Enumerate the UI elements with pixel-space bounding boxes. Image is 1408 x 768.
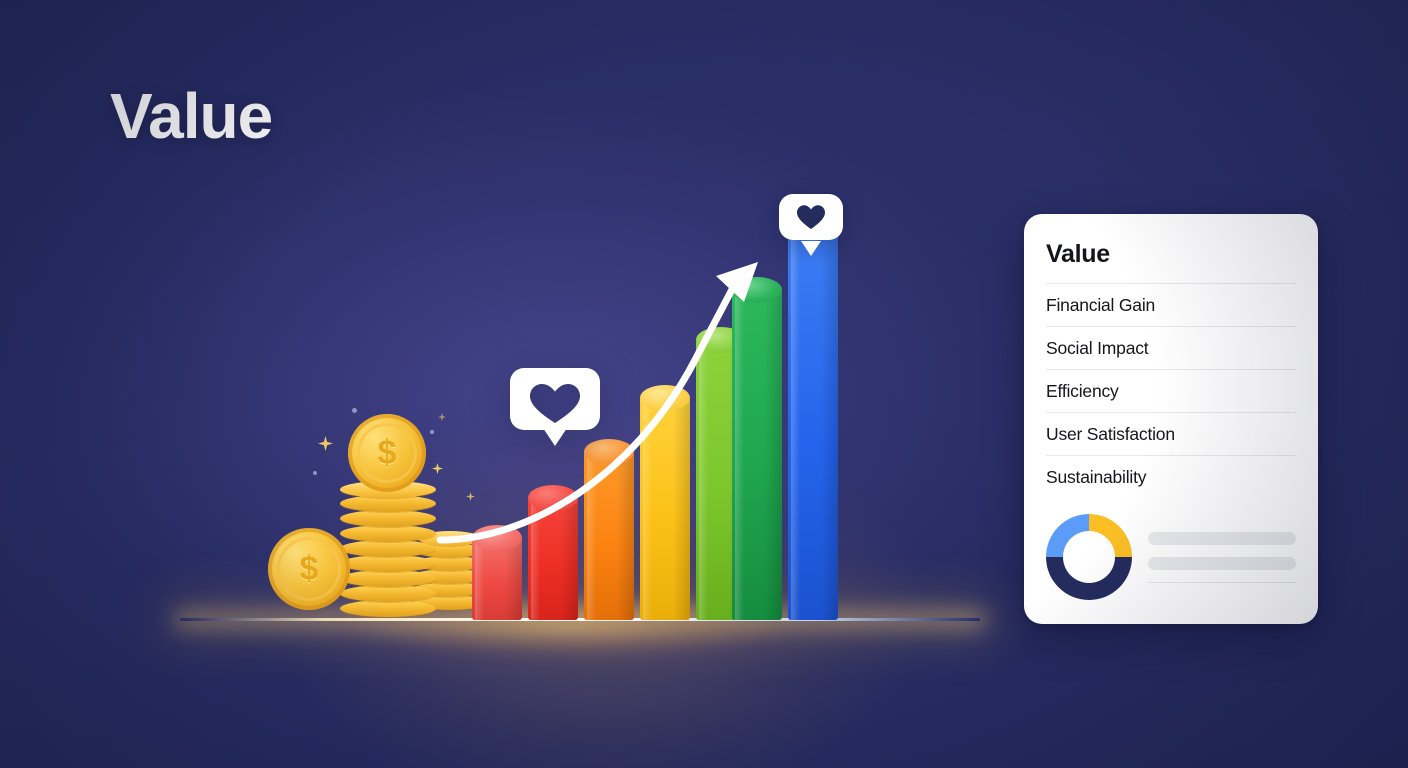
placeholder-list xyxy=(1148,532,1296,583)
heart-icon xyxy=(510,368,600,448)
placeholder-divider xyxy=(1148,582,1296,583)
placeholder-bar xyxy=(1148,557,1296,570)
chart-bar xyxy=(788,228,838,620)
card-list-item-sustainability[interactable]: Sustainability xyxy=(1046,456,1296,498)
heart-bubble-small xyxy=(779,194,843,240)
dollar-symbol: $ xyxy=(378,434,397,473)
gold-coin-left: $ xyxy=(268,528,350,610)
card-list-item-efficiency[interactable]: Efficiency xyxy=(1046,370,1296,412)
illustration-background: Value xyxy=(0,0,1408,768)
card-list-item-social-impact[interactable]: Social Impact xyxy=(1046,327,1296,369)
dust-dot-icon xyxy=(352,408,357,413)
growth-arrow xyxy=(420,240,780,570)
card-list-item-financial-gain[interactable]: Financial Gain xyxy=(1046,284,1296,326)
value-card[interactable]: Value Financial Gain Social Impact Effic… xyxy=(1024,214,1318,624)
card-title: Value xyxy=(1046,240,1296,283)
gold-coin-top: $ xyxy=(348,414,426,492)
donut-hole xyxy=(1063,531,1115,583)
heart-bubble-large xyxy=(510,368,600,430)
donut-chart xyxy=(1046,514,1132,600)
placeholder-bar xyxy=(1148,532,1296,545)
value-illustration: $ $ xyxy=(0,0,1000,768)
dust-dot-icon xyxy=(313,471,317,475)
heart-icon xyxy=(796,204,826,231)
floor-light-line xyxy=(180,618,980,621)
sparkle-icon xyxy=(318,436,333,451)
card-footer xyxy=(1046,514,1296,600)
card-list-item-user-satisfaction[interactable]: User Satisfaction xyxy=(1046,413,1296,455)
dollar-symbol: $ xyxy=(300,550,319,589)
